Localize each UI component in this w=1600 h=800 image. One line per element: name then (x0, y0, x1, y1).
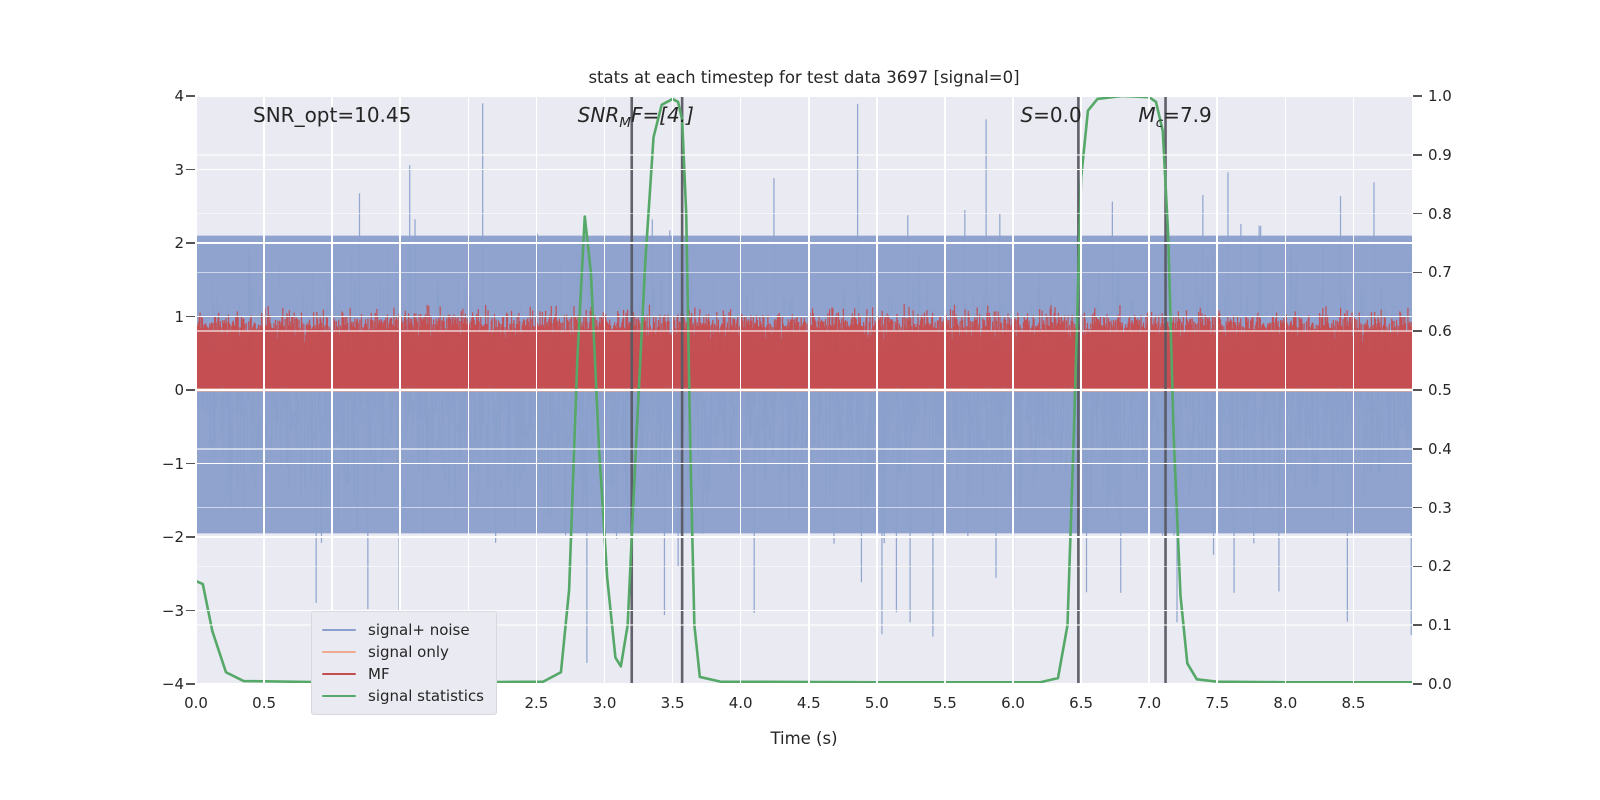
legend-item-1[interactable]: signal only (322, 641, 484, 663)
legend-swatch-icon (322, 695, 356, 698)
gridline-vertical (468, 96, 470, 684)
y-tick-mark-right (1413, 154, 1422, 156)
gridline-horizontal (196, 169, 1412, 171)
y-tick-mark-right (1413, 683, 1422, 685)
y-tick-mark-right (1413, 566, 1422, 568)
x-tick-label: 7.0 (1137, 694, 1161, 712)
y-tick-label-right: 0.2 (1428, 557, 1452, 575)
y-tick-mark-right (1413, 507, 1422, 509)
x-tick-label: 2.5 (524, 694, 548, 712)
y-tick-label-right: 1.0 (1428, 87, 1452, 105)
y-tick-mark-right (1413, 213, 1422, 215)
x-tick-label: 3.0 (593, 694, 617, 712)
y-tick-mark-right (1413, 272, 1422, 274)
y-tick-label-left: −2 (162, 528, 184, 546)
legend-item-0[interactable]: signal+ noise (322, 619, 484, 641)
y-tick-mark-left (186, 242, 195, 244)
gridline-vertical (331, 96, 333, 684)
gridline-horizontal-right (196, 566, 1412, 568)
gridline-horizontal (196, 463, 1412, 465)
gridline-horizontal-right (196, 389, 1412, 391)
gridline-vertical (1353, 96, 1355, 684)
y-tick-label-right: 0.4 (1428, 440, 1452, 458)
annotation-snr-mf: SNRMF=[4.] (578, 103, 694, 131)
matplotlib-figure: stats at each timestep for test data 369… (0, 0, 1600, 800)
gridline-vertical (808, 96, 810, 684)
x-tick-label: 5.5 (933, 694, 957, 712)
y-tick-label-right: 0.7 (1428, 263, 1452, 281)
legend-label: signal+ noise (368, 621, 470, 639)
y-tick-label-left: 4 (174, 87, 184, 105)
plot-area: SNR_opt=10.45SNRMF=[4.]S=0.0Mc=7.9 (196, 96, 1412, 684)
x-tick-label: 0.0 (184, 694, 208, 712)
gridline-vertical (1216, 96, 1218, 684)
gridline-horizontal-right (196, 96, 1412, 97)
y-tick-mark-right (1413, 330, 1422, 332)
gridline-horizontal-right (196, 507, 1412, 509)
y-tick-mark-right (1413, 448, 1422, 450)
y-tick-label-left: −1 (162, 455, 184, 473)
gridline-vertical (1080, 96, 1082, 684)
y-tick-mark-left (186, 610, 195, 612)
legend-swatch-icon (322, 673, 356, 676)
x-tick-label: 6.0 (1001, 694, 1025, 712)
legend-label: MF (368, 665, 390, 683)
y-tick-label-right: 0.3 (1428, 499, 1452, 517)
y-tick-label-right: 0.0 (1428, 675, 1452, 693)
legend-label: signal only (368, 643, 449, 661)
y-tick-label-right: 0.8 (1428, 205, 1452, 223)
x-tick-label: 3.5 (661, 694, 685, 712)
y-tick-label-left: 3 (174, 161, 184, 179)
gridline-horizontal-right (196, 272, 1412, 274)
x-tick-label: 5.0 (865, 694, 889, 712)
y-tick-label-left: 1 (174, 308, 184, 326)
y-tick-mark-left (186, 389, 195, 391)
x-tick-label: 6.5 (1069, 694, 1093, 712)
x-axis-label: Time (s) (196, 729, 1412, 748)
y-tick-mark-right (1413, 389, 1422, 391)
gridline-vertical (672, 96, 674, 684)
y-tick-label-left: 2 (174, 234, 184, 252)
y-tick-label-right: 0.5 (1428, 381, 1452, 399)
plot-title: stats at each timestep for test data 369… (196, 68, 1412, 87)
gridline-vertical (1285, 96, 1287, 684)
x-tick-label: 8.0 (1273, 694, 1297, 712)
annotation-chirp-mass: Mc=7.9 (1138, 103, 1211, 131)
x-tick-label: 8.5 (1342, 694, 1366, 712)
y-tick-mark-left (186, 95, 195, 97)
legend-swatch-icon (322, 629, 356, 632)
gridline-horizontal-right (196, 330, 1412, 332)
gridline-vertical (196, 96, 197, 684)
x-tick-label: 4.0 (729, 694, 753, 712)
y-tick-label-right: 0.1 (1428, 616, 1452, 634)
y-tick-label-right: 0.9 (1428, 146, 1452, 164)
y-tick-label-left: 0 (174, 381, 184, 399)
y-tick-mark-left (186, 169, 195, 171)
y-tick-mark-right (1413, 624, 1422, 626)
y-tick-mark-left (186, 536, 195, 538)
gridline-horizontal-right (196, 154, 1412, 156)
gridline-vertical (876, 96, 878, 684)
y-tick-mark-left (186, 316, 195, 318)
gridline-vertical (263, 96, 265, 684)
annotation-s-stat: S=0.0 (1020, 103, 1081, 127)
y-axis-left-label: Whitened strain (0, 190, 4, 610)
gridline-horizontal (196, 242, 1412, 244)
annotation-snr-opt: SNR_opt=10.45 (253, 103, 411, 127)
legend-item-3[interactable]: signal statistics (322, 685, 484, 707)
gridline-vertical (536, 96, 538, 684)
x-tick-label: 4.5 (797, 694, 821, 712)
gridline-vertical (1012, 96, 1014, 684)
y-tick-mark-left (186, 463, 195, 465)
x-tick-label: 7.5 (1205, 694, 1229, 712)
gridline-horizontal-right (196, 213, 1412, 215)
x-tick-label: 0.5 (252, 694, 276, 712)
y-tick-mark-right (1413, 95, 1422, 97)
gridline-vertical (944, 96, 946, 684)
y-tick-label-left: −3 (162, 602, 184, 620)
gridline-vertical (1148, 96, 1150, 684)
gridline-horizontal (196, 536, 1412, 538)
legend-item-2[interactable]: MF (322, 663, 484, 685)
y-tick-label-right: 0.6 (1428, 322, 1452, 340)
legend-swatch-icon (322, 651, 356, 654)
legend-label: signal statistics (368, 687, 484, 705)
y-tick-label-left: −4 (162, 675, 184, 693)
y-tick-mark-left (186, 683, 195, 685)
gridline-vertical (740, 96, 742, 684)
gridline-horizontal (196, 316, 1412, 318)
chart-legend[interactable]: signal+ noisesignal onlyMFsignal statist… (311, 611, 497, 715)
gridline-horizontal-right (196, 448, 1412, 450)
gridline-vertical (399, 96, 401, 684)
gridline-vertical (604, 96, 606, 684)
